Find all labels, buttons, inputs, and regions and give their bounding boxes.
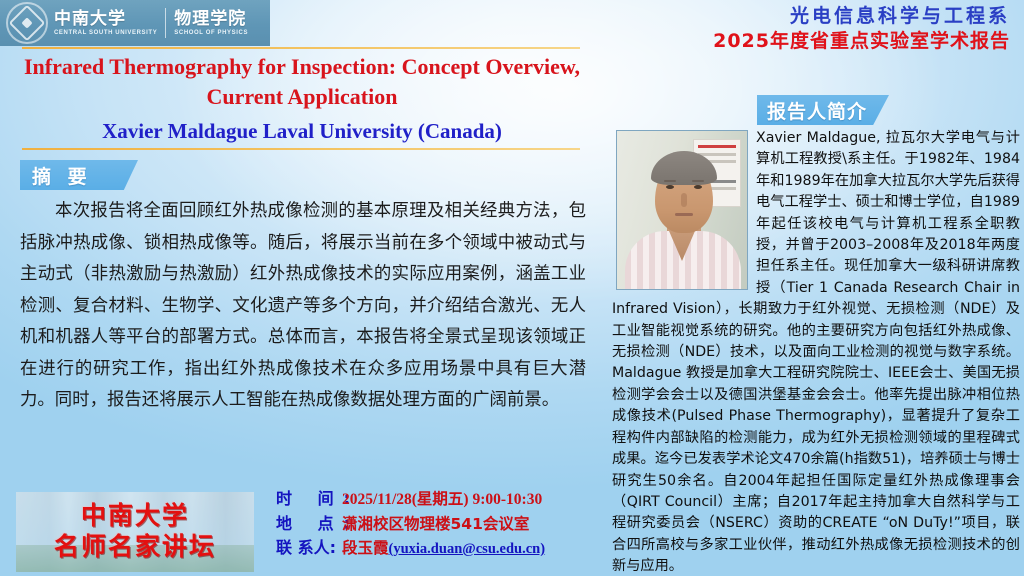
abstract-body: 本次报告将全面回顾红外热成像检测的基本原理及相关经典方法，包括脉冲热成像、锁相热…: [20, 196, 586, 417]
speaker-portrait-photo: [616, 130, 748, 290]
seminar-poster: 中南大学 CENTRAL SOUTH UNIVERSITY 物理学院 SCHOO…: [0, 0, 1024, 576]
university-logo-bar: 中南大学 CENTRAL SOUTH UNIVERSITY 物理学院 SCHOO…: [0, 0, 270, 46]
divider-top: [22, 47, 580, 49]
school-name-en: SCHOOL OF PHYSICS: [174, 29, 248, 37]
university-name-cn: 中南大学: [54, 10, 157, 29]
detail-row-place: 地 点: 潇湘校区物理楼541会议室: [276, 512, 596, 536]
divider-under-speaker: [22, 148, 580, 150]
logo-text-group: 中南大学 CENTRAL SOUTH UNIVERSITY 物理学院 SCHOO…: [54, 8, 248, 38]
contact-name: 段玉霞: [342, 536, 389, 560]
logo-divider: [165, 8, 166, 38]
time-value: 2025/11/28(星期五) 9:00-10:30: [342, 488, 542, 512]
speaker-bio-text: Xavier Maldague, 拉瓦尔大学电气与计算机工程教授\系主任。于19…: [612, 128, 1020, 576]
department-header: 光电信息科学与工程系 2025年度省重点实验室学术报告: [590, 4, 1010, 54]
place-value: 潇湘校区物理楼541会议室: [342, 512, 529, 536]
place-label: 地 点:: [276, 512, 342, 536]
contact-label: 联 系人:: [276, 536, 342, 560]
school-name-block: 物理学院 SCHOOL OF PHYSICS: [174, 10, 248, 37]
event-details: 时 间: 2025/11/28(星期五) 9:00-10:30 地 点: 潇湘校…: [276, 487, 596, 561]
school-name-cn: 物理学院: [174, 10, 248, 29]
page-title: Infrared Thermography for Inspection: Co…: [14, 52, 590, 112]
department-name: 光电信息科学与工程系: [590, 4, 1010, 28]
detail-row-contact: 联 系人: 段玉霞 (yuxia.duan@csu.edu.cn): [276, 536, 596, 561]
contact-email-link[interactable]: (yuxia.duan@csu.edu.cn): [389, 537, 546, 561]
detail-row-time: 时 间: 2025/11/28(星期五) 9:00-10:30: [276, 487, 596, 512]
lecture-series-name: 2025年度省重点实验室学术报告: [590, 28, 1010, 54]
university-name-en: CENTRAL SOUTH UNIVERSITY: [54, 29, 157, 37]
university-name-block: 中南大学 CENTRAL SOUTH UNIVERSITY: [54, 10, 157, 37]
abstract-banner: 摘 要: [20, 160, 138, 190]
forum-title-group: 中南大学 名师名家讲坛: [16, 492, 254, 572]
university-emblem-icon: [6, 2, 48, 44]
forum-watermark: 中南大学 名师名家讲坛: [16, 492, 254, 572]
forum-title-line1: 中南大学: [81, 501, 189, 531]
speaker-affiliation-line: Xavier Maldague Laval University (Canada…: [14, 118, 590, 144]
forum-title-line2: 名师名家讲坛: [54, 531, 216, 563]
speaker-bio-banner: 报告人简介: [757, 95, 889, 125]
time-label: 时 间:: [276, 487, 342, 511]
